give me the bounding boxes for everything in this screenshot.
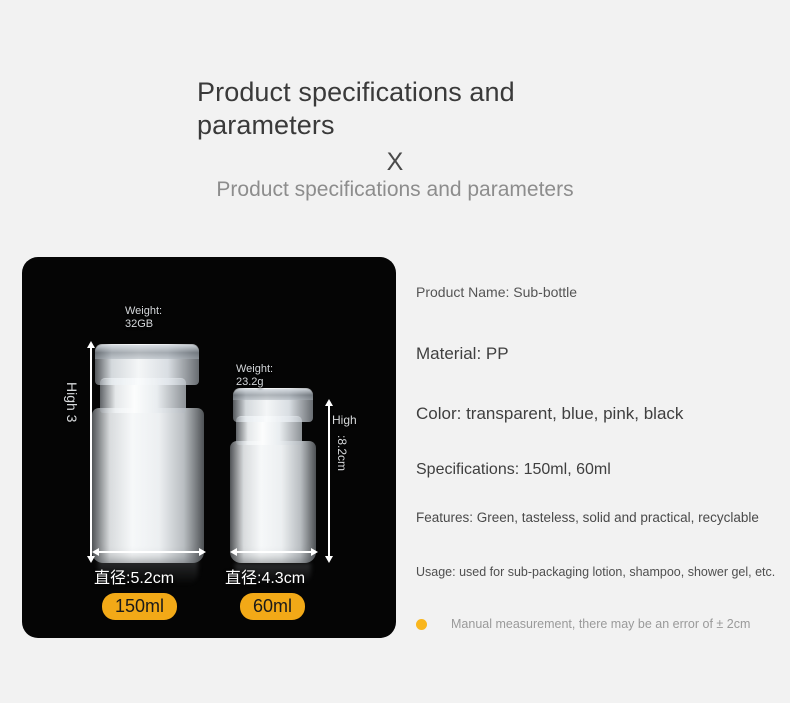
- bottle-small-height-label-value: :8.2cm: [335, 435, 349, 471]
- bottle-small: [230, 380, 316, 563]
- bottle-large-weight-line1: Weight:: [125, 305, 205, 318]
- bottle-large-weight-line2: 32GB: [125, 318, 205, 331]
- arrow-head-down-icon: [325, 556, 333, 563]
- spec-usage: Usage: used for sub-packaging lotion, sh…: [416, 565, 775, 579]
- spec-color: Color: transparent, blue, pink, black: [416, 404, 683, 424]
- x-divider-icon: X: [0, 148, 790, 176]
- arrow-line: [236, 551, 312, 553]
- product-photo-panel: Weight: 32GB High 3 直径:5.2cm 150ml Weigh…: [22, 257, 396, 638]
- bottle-small-weight-line2: 23.2g: [236, 376, 316, 389]
- spec-specifications: Specifications: 150ml, 60ml: [416, 461, 611, 479]
- page-header: Product specifications and parameters X …: [0, 0, 790, 236]
- bottle-large-height-label: High 3: [64, 382, 80, 422]
- bottle-small-cap-lip: [233, 389, 313, 400]
- bottle-small-weight-label: Weight: 23.2g: [236, 363, 316, 389]
- product-spec-page: Product specifications and parameters X …: [0, 0, 790, 703]
- page-title: Product specifications and parameters: [197, 76, 557, 142]
- arrow-head-right-icon: [199, 548, 206, 556]
- bottle-small-diameter-label: 直径:4.3cm: [225, 564, 305, 588]
- bottle-large-body: [92, 408, 204, 563]
- bottle-large-cap-lip: [95, 345, 199, 359]
- spec-material: Material: PP: [416, 344, 509, 364]
- bottle-small-diameter-arrow: [230, 545, 318, 559]
- bottle-small-height-label-prefix: High: [332, 413, 357, 427]
- spec-features: Features: Green, tasteless, solid and pr…: [416, 510, 759, 525]
- bottle-small-cap: [233, 388, 313, 422]
- bottle-small-volume-badge: 60ml: [240, 593, 305, 620]
- bottle-large-diameter-label: 直径:5.2cm: [94, 564, 174, 588]
- bottle-large-volume-badge: 150ml: [102, 593, 177, 620]
- spec-product-name: Product Name: Sub-bottle: [416, 284, 577, 300]
- bottle-large-diameter-arrow: [92, 545, 206, 559]
- bottle-small-weight-line1: Weight:: [236, 363, 316, 376]
- bottle-large-cap: [95, 344, 199, 385]
- arrow-line: [90, 347, 92, 557]
- page-subtitle: Product specifications and parameters: [0, 176, 790, 204]
- arrow-head-right-icon: [311, 548, 318, 556]
- measurement-note-text: Manual measurement, there may be an erro…: [451, 615, 750, 633]
- bottle-large-height-arrow: [84, 341, 98, 563]
- arrow-line: [328, 405, 330, 557]
- bottle-large: [92, 335, 204, 563]
- bottle-large-weight-label: Weight: 32GB: [125, 305, 205, 331]
- bullet-dot-icon: [416, 619, 427, 630]
- arrow-line: [98, 551, 200, 553]
